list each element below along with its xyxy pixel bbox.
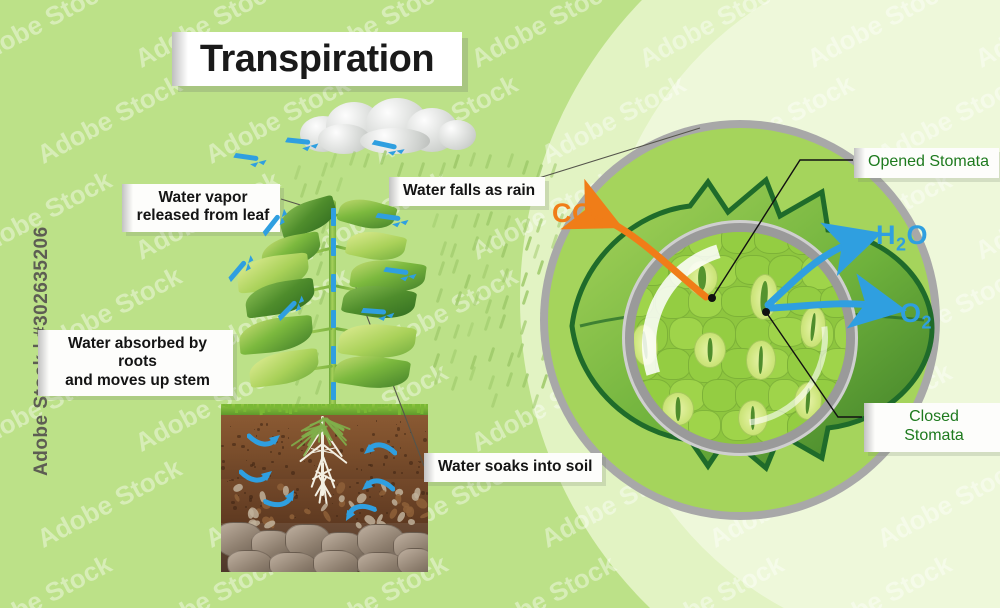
o2-label: O2	[900, 298, 932, 333]
label-shade	[122, 184, 133, 232]
magnified-leaf-surface	[634, 232, 846, 444]
co2-label: CO2	[552, 198, 604, 233]
h2o-subscript: 2	[896, 234, 907, 254]
rain-drop	[329, 153, 336, 168]
stem-water-arrow	[331, 346, 336, 364]
diagram-canvas: Adobe StockAdobe StockAdobe StockAdobe S…	[0, 0, 1000, 608]
title-banner: Transpiration	[172, 32, 462, 86]
soil-speck	[260, 423, 263, 426]
rain-drop	[507, 152, 514, 167]
soil-speck	[237, 435, 240, 438]
label-shade	[38, 330, 49, 396]
label-shade	[854, 148, 865, 178]
leaf-magnifier	[540, 120, 960, 520]
rain-drop	[501, 295, 508, 310]
soil-speck	[227, 481, 228, 482]
stem-water-arrow	[331, 238, 336, 256]
stem-water-arrow	[331, 208, 336, 226]
bedrock-stone	[227, 550, 273, 572]
watermark-tile: Adobe Stock	[0, 0, 117, 74]
watermark-tile: Adobe Stock	[0, 549, 117, 608]
label-water-vapor: Water vapor released from leaf	[122, 184, 280, 232]
label-shade	[424, 453, 435, 482]
rain-drop	[485, 154, 492, 169]
rain-drop	[455, 291, 462, 306]
soil-cross-section	[221, 404, 428, 572]
h2o-text: H	[876, 220, 896, 250]
soil-speck	[426, 492, 428, 494]
rain-drop	[450, 243, 457, 258]
epidermal-cell	[820, 232, 846, 257]
rain-drop	[417, 161, 424, 176]
watermark-tile: Adobe Stock	[32, 69, 187, 171]
rain-drop	[471, 236, 478, 251]
label-shade	[389, 177, 400, 206]
label-roots-text: Water absorbed by roots and moves up ste…	[52, 335, 223, 390]
soil-speck	[231, 479, 233, 481]
rain-drop	[438, 260, 445, 275]
rain-drop	[321, 161, 328, 176]
water-absorption-arrow	[361, 470, 395, 493]
rain-drop	[472, 291, 479, 306]
rain-drop	[486, 211, 493, 226]
soil-speck	[282, 446, 285, 449]
watermark-tile: Adobe Stock	[466, 549, 621, 608]
soil-speck	[421, 491, 425, 495]
rain-drop	[482, 263, 489, 278]
bedrock-stone	[269, 552, 317, 572]
rain-drop	[453, 154, 460, 169]
label-closed-stomata: Closed Stomata	[864, 403, 1000, 452]
watermark-tile: Adobe Stock	[0, 165, 117, 267]
grass-blade	[237, 404, 241, 411]
soil-speck	[370, 464, 373, 467]
o2-subscript: 2	[922, 312, 933, 332]
grass-blade	[289, 404, 292, 414]
soil-speck	[416, 471, 419, 474]
rain-drop	[450, 214, 457, 229]
rain-drop	[451, 376, 458, 391]
soil-speck	[249, 498, 252, 501]
label-water-falls-as-rain: Water falls as rain	[389, 177, 545, 206]
label-water-vapor-text: Water vapor released from leaf	[136, 189, 270, 226]
water-absorption-arrow	[363, 434, 397, 457]
rain-drop	[499, 314, 506, 329]
label-rain-text: Water falls as rain	[403, 182, 535, 200]
grass-blade	[398, 404, 401, 415]
soil-pebble	[406, 506, 414, 517]
rain-drop	[488, 347, 495, 362]
water-absorption-arrow	[247, 432, 281, 455]
soil-speck	[357, 425, 359, 427]
soil-speck	[400, 421, 401, 422]
h2o-label: H2O	[876, 220, 928, 255]
plant-leaf	[333, 350, 411, 393]
plant-illustration	[243, 186, 433, 411]
rain-drop	[452, 324, 459, 339]
label-opened-stomata: Opened Stomata	[854, 148, 999, 178]
soil-speck	[249, 495, 253, 499]
co2-subscript: 2	[594, 212, 605, 232]
water-absorption-arrow	[239, 468, 273, 491]
grass-blade	[378, 404, 381, 407]
soil-speck	[336, 515, 338, 517]
label-closed-stomata-text: Closed Stomata	[878, 408, 990, 446]
soil-speck	[404, 433, 406, 435]
label-opened-stomata-text: Opened Stomata	[868, 153, 989, 172]
soil-speck	[356, 482, 359, 485]
grass-blade	[317, 404, 321, 409]
rain-drop	[507, 352, 514, 367]
label-water-absorbed-by-roots: Water absorbed by roots and moves up ste…	[38, 330, 233, 396]
soil-speck	[396, 424, 397, 425]
rain-drop	[485, 235, 492, 250]
rain-drop	[484, 299, 491, 314]
rain-drop	[522, 160, 529, 175]
rain-drop	[503, 215, 510, 230]
rain-drop	[501, 243, 508, 258]
soil-speck	[233, 506, 237, 510]
plant-leaf	[247, 348, 320, 388]
soil-speck	[221, 466, 225, 470]
rain-drop	[488, 375, 495, 390]
cloud-puff	[438, 120, 476, 150]
co2-text: CO	[552, 198, 594, 228]
soil-speck	[271, 461, 274, 464]
rain-drop	[294, 165, 301, 180]
stem-water-arrow	[331, 310, 336, 328]
soil-speck	[291, 471, 295, 475]
grass-blade	[426, 404, 428, 409]
label-water-soaks-into-soil: Water soaks into soil	[424, 453, 602, 482]
soil-speck	[409, 461, 413, 465]
soil-speck	[281, 441, 283, 443]
rain-drop	[502, 268, 509, 283]
rain-drop	[434, 370, 441, 385]
page-title: Transpiration	[172, 32, 462, 86]
bedrock-stone	[397, 548, 428, 572]
soil-speck	[229, 480, 230, 481]
grass-blade	[409, 404, 412, 409]
rain-drop	[349, 151, 356, 166]
stem-water-arrow	[331, 382, 336, 400]
grass-blade	[322, 404, 325, 406]
soil-speck	[285, 465, 287, 467]
label-shade	[864, 403, 875, 452]
soil-speck	[241, 445, 245, 449]
rain-drop	[363, 153, 370, 168]
bedrock-stone	[313, 550, 359, 572]
watermark-tile: Adobe Stock	[32, 453, 187, 555]
soil-speck	[232, 443, 236, 447]
rain-drop	[491, 393, 498, 408]
grass-blade	[262, 404, 266, 413]
soil-speck	[383, 463, 386, 466]
rain-drop	[467, 322, 474, 337]
soil-speck	[301, 450, 303, 452]
h2o-oxygen: O	[907, 220, 929, 250]
soil-speck	[221, 445, 224, 448]
rain-drop	[450, 349, 457, 364]
rain-drop	[432, 353, 439, 368]
rain-drop	[439, 161, 446, 176]
soil-speck	[252, 462, 256, 466]
rain-drop	[464, 274, 471, 289]
grass-blade	[314, 404, 318, 411]
soil-speck	[401, 472, 403, 474]
rain-drop	[484, 316, 491, 331]
label-soil-text: Water soaks into soil	[438, 458, 592, 476]
o2-text: O	[900, 298, 922, 328]
epidermal-cell	[655, 232, 687, 255]
rain-drop	[452, 259, 459, 274]
stem-water-arrow	[331, 274, 336, 292]
rain-drop	[436, 288, 443, 303]
leaf-vapor-arrow	[229, 143, 271, 182]
rain-drop	[439, 241, 446, 256]
rain-drop	[469, 152, 476, 167]
rain-drop	[506, 371, 513, 386]
rain-drop	[473, 213, 480, 228]
soil-speck	[308, 459, 312, 463]
soil-speck	[425, 431, 426, 432]
rain-drop	[433, 326, 440, 341]
soil-speck	[376, 420, 378, 422]
soil-speck	[246, 460, 247, 461]
